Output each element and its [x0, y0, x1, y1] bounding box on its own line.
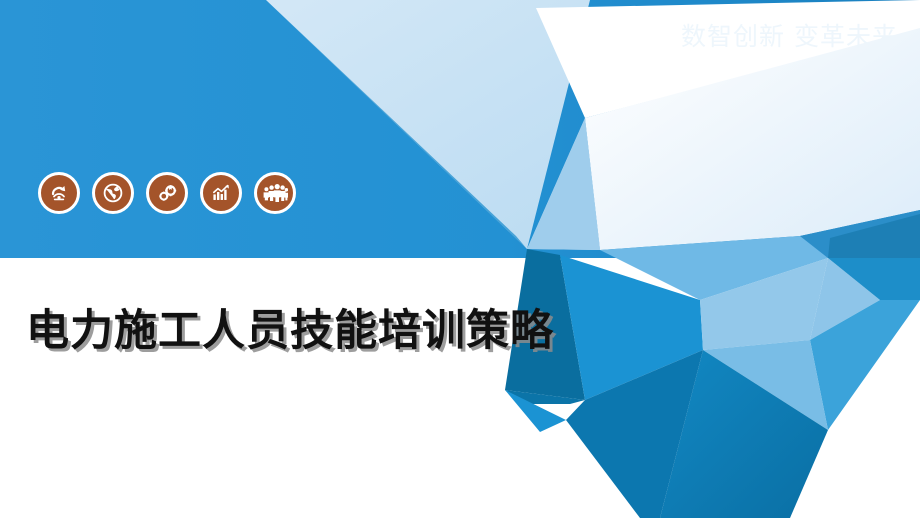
globe-icon[interactable]	[92, 172, 134, 214]
gears-icon[interactable]	[146, 172, 188, 214]
bar-chart-icon[interactable]	[200, 172, 242, 214]
slide-tagline: 数智创新 变革未来	[681, 24, 898, 49]
decorative-polygon-artwork	[0, 0, 920, 518]
presentation-title-slide: 数智创新 变革未来	[0, 0, 920, 518]
page-title: 电力施工人员技能培训策略	[26, 296, 554, 358]
team-group-icon[interactable]	[254, 172, 296, 214]
feature-icon-row	[38, 172, 296, 214]
refresh-arrow-icon[interactable]	[38, 172, 80, 214]
